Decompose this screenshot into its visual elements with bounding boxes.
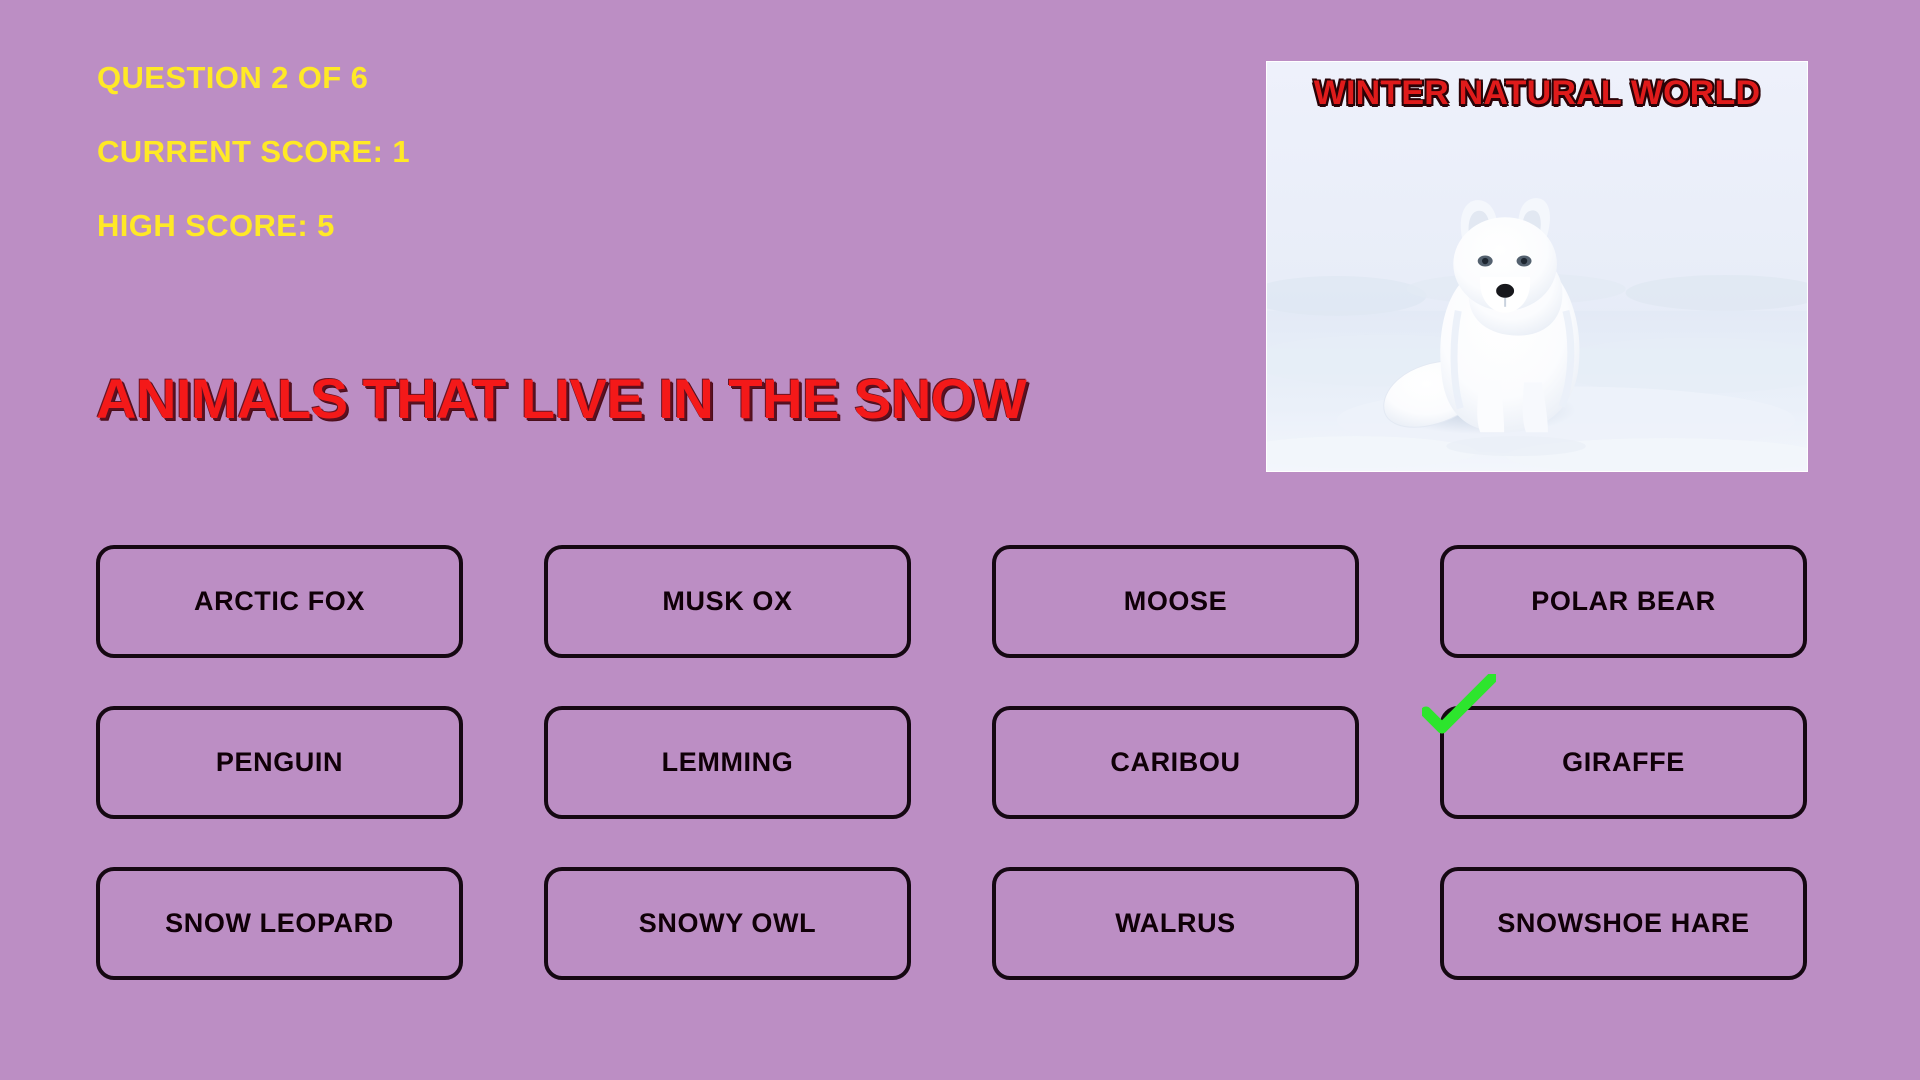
answer-option-button[interactable]: WALRUS: [992, 867, 1359, 980]
answer-option-label: LEMMING: [662, 747, 794, 778]
high-score-text: HIGH SCORE: 5: [97, 210, 997, 241]
answer-option-label: SNOWY OWL: [639, 908, 816, 939]
current-score-text: CURRENT SCORE: 1: [97, 136, 997, 167]
answer-option-label: MOOSE: [1124, 586, 1228, 617]
answer-option-label: PENGUIN: [216, 747, 343, 778]
answer-option-button[interactable]: SNOW LEOPARD: [96, 867, 463, 980]
answer-option-button[interactable]: SNOWY OWL: [544, 867, 911, 980]
answer-option-button[interactable]: SNOWSHOE HARE: [1440, 867, 1807, 980]
question-title: ANIMALS THAT LIVE IN THE SNOW: [96, 372, 1106, 427]
answer-option-label: MUSK OX: [662, 586, 792, 617]
quiz-stage: QUESTION 2 OF 6 CURRENT SCORE: 1 HIGH SC…: [0, 0, 1920, 1080]
answer-option-label: ARCTIC FOX: [194, 586, 365, 617]
status-block: QUESTION 2 OF 6 CURRENT SCORE: 1 HIGH SC…: [97, 62, 997, 284]
answer-option-button[interactable]: LEMMING: [544, 706, 911, 819]
answer-option-label: WALRUS: [1115, 908, 1236, 939]
question-progress-text: QUESTION 2 OF 6: [97, 62, 997, 93]
answer-option-button[interactable]: POLAR BEAR: [1440, 545, 1807, 658]
answer-option-label: SNOW LEOPARD: [165, 908, 394, 939]
answer-option-button[interactable]: MUSK OX: [544, 545, 911, 658]
answer-option-label: POLAR BEAR: [1531, 586, 1716, 617]
answer-option-label: CARIBOU: [1110, 747, 1240, 778]
image-card: WINTER NATURAL WORLD: [1266, 61, 1808, 472]
answer-option-button[interactable]: MOOSE: [992, 545, 1359, 658]
answer-option-label: SNOWSHOE HARE: [1497, 908, 1749, 939]
answer-option-label: GIRAFFE: [1562, 747, 1685, 778]
arctic-fox-photo: [1267, 62, 1807, 471]
answer-grid: ARCTIC FOXMUSK OXMOOSEPOLAR BEARPENGUINL…: [96, 545, 1808, 980]
answer-option-button[interactable]: PENGUIN: [96, 706, 463, 819]
answer-option-button[interactable]: GIRAFFE: [1440, 706, 1807, 819]
answer-option-button[interactable]: CARIBOU: [992, 706, 1359, 819]
answer-option-button[interactable]: ARCTIC FOX: [96, 545, 463, 658]
green-check-icon: [1422, 674, 1496, 738]
